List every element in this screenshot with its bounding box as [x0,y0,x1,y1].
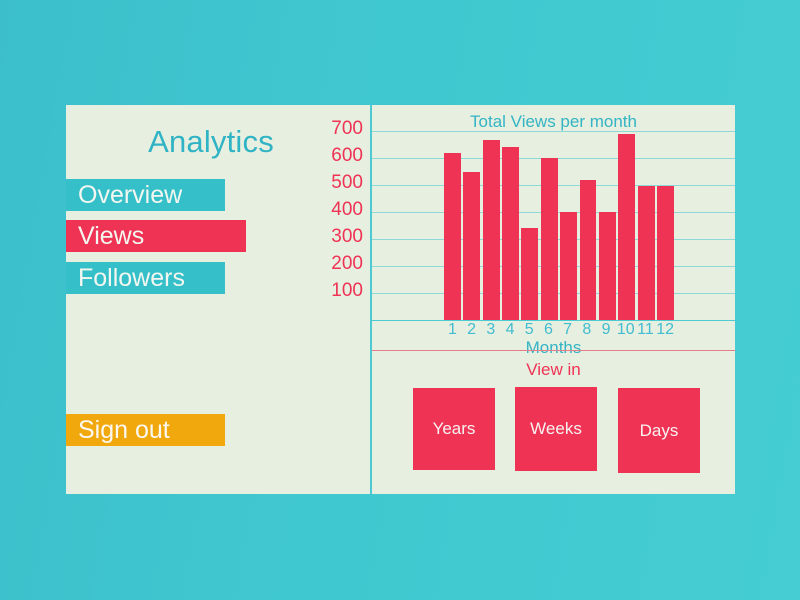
sidebar-item-followers[interactable]: Followers [66,262,225,294]
y-axis-tick: 700 [331,119,363,139]
x-axis-tick: 10 [617,321,635,339]
y-axis-tick: 500 [331,173,363,193]
view-in-section: View in Years Weeks Days [372,350,735,494]
x-axis-tick: 2 [463,321,480,339]
chart-bar [444,153,461,320]
y-axis-tick: 300 [331,227,363,247]
chart-bar [502,147,519,320]
view-in-label: View in [372,360,735,380]
x-axis-tick: 11 [637,321,654,339]
chart-bar [521,228,538,320]
sidebar-item-overview[interactable]: Overview [66,179,225,211]
y-axis-tick: 400 [331,200,363,220]
x-axis-tick-labels: 123456789101112 [444,321,674,339]
chart-bar [618,134,635,320]
chart-plot-area [444,131,674,320]
chart-bar [463,172,480,321]
period-button-years[interactable]: Years [413,388,495,470]
content-panel: Total Views per month 123456789101112 Mo… [370,105,735,494]
x-axis-tick: 9 [598,321,615,339]
x-axis-tick: 8 [578,321,595,339]
period-button-weeks[interactable]: Weeks [515,387,597,471]
chart-title: Total Views per month [372,112,735,132]
x-axis-tick: 5 [521,321,538,339]
sidebar: Analytics Overview Views Followers Sign … [66,105,370,494]
y-axis-tick: 100 [331,281,363,301]
sign-out-button[interactable]: Sign out [66,414,225,446]
x-axis-tick: 1 [444,321,461,339]
period-button-days[interactable]: Days [618,388,700,473]
x-axis-tick: 6 [540,321,557,339]
x-axis-tick: 4 [502,321,519,339]
chart-bar [560,212,577,320]
sidebar-item-views[interactable]: Views [66,220,246,252]
chart-bar [638,186,655,320]
x-axis-tick: 7 [559,321,576,339]
page-title: Analytics [66,124,356,160]
x-axis-tick: 3 [482,321,499,339]
y-axis-tick: 200 [331,254,363,274]
analytics-card: Analytics Overview Views Followers Sign … [66,105,735,494]
chart-bar [657,186,674,320]
y-axis-tick-labels: 700600500400300200100 [319,119,363,319]
chart-bar [580,180,597,320]
chart-bar [541,158,558,320]
chart-bar [599,212,616,320]
views-bar-chart: Total Views per month 123456789101112 Mo… [372,105,735,350]
x-axis-tick: 12 [656,321,674,339]
y-axis-tick: 600 [331,146,363,166]
chart-bar [483,140,500,320]
